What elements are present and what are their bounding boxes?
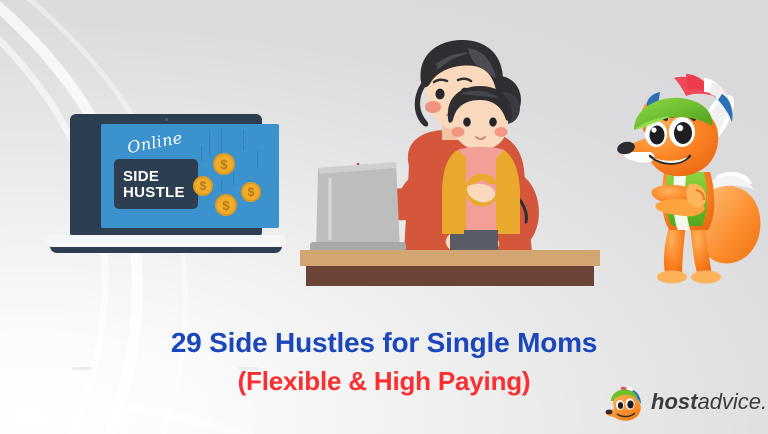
dollar-coin-icon: $: [241, 182, 261, 202]
fox-crossed-arms: [651, 184, 706, 217]
side-hustle-laptop-graphic: Online SIDE HUSTLE $ $ $ $: [46, 114, 286, 268]
money-streak: [243, 130, 244, 150]
logo-wordmark: hostadvice.: [651, 389, 767, 415]
side-hustle-badge-line2: HUSTLE: [123, 185, 185, 200]
side-hustle-badge: SIDE HUSTLE: [114, 159, 198, 209]
hostadvice-logo[interactable]: hostadvice.: [605, 385, 765, 425]
laptop-base: [46, 235, 286, 247]
hostadvice-fox-mascot: [612, 72, 768, 288]
online-script-text: Online: [126, 128, 184, 157]
dollar-symbol: $: [200, 179, 207, 193]
logo-text-advice: advice.: [697, 389, 767, 414]
child-figure: [442, 86, 520, 252]
promo-banner: Online SIDE HUSTLE $ $ $ $: [0, 0, 768, 434]
dollar-symbol: $: [222, 198, 229, 213]
money-streak: [257, 150, 258, 168]
desk-laptop: [310, 162, 406, 252]
desk: [300, 250, 600, 286]
laptop-screen: Online SIDE HUSTLE $ $ $ $: [101, 124, 279, 228]
banner-headline: 29 Side Hustles for Single Moms: [0, 327, 768, 359]
laptop-lid: Online SIDE HUSTLE $ $ $ $: [70, 114, 262, 238]
dollar-coin-icon: $: [213, 153, 235, 175]
dollar-coin-icon: $: [193, 176, 213, 196]
side-hustle-badge-line1: SIDE: [123, 169, 159, 184]
logo-fox-icon: [605, 385, 651, 423]
money-streak: [221, 180, 222, 192]
dollar-coin-icon: $: [215, 194, 237, 216]
logo-text-host: host: [651, 389, 697, 414]
money-streak: [233, 172, 234, 186]
dollar-symbol: $: [248, 185, 255, 199]
dollar-symbol: $: [220, 157, 227, 172]
money-streak: [209, 132, 210, 156]
mother-and-child-illustration: [300, 38, 600, 290]
money-streak: [201, 146, 202, 162]
